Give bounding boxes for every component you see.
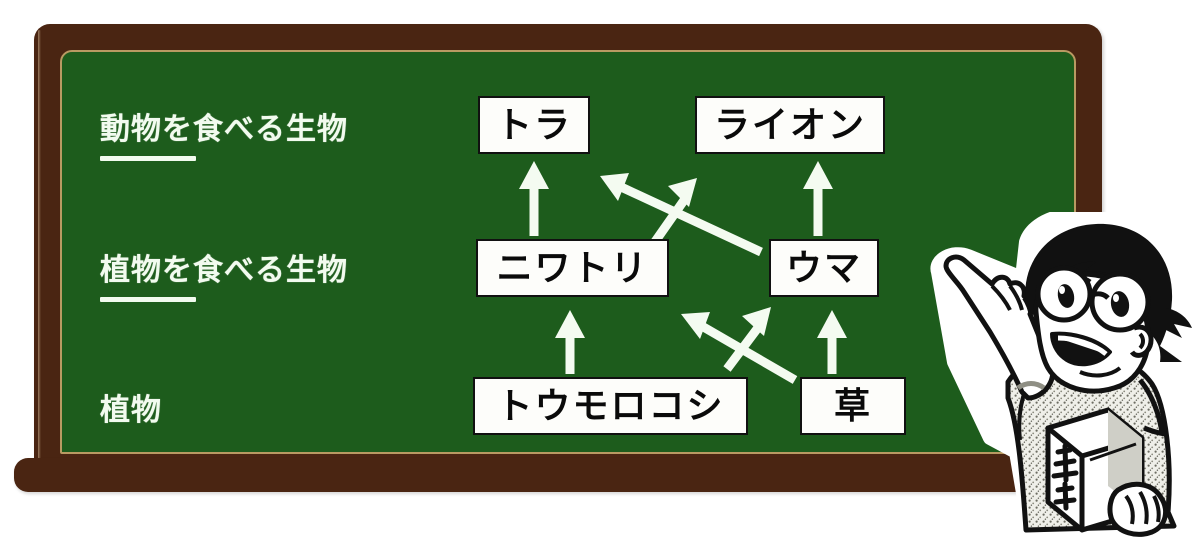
node-uma[interactable]: ウマ <box>769 239 879 297</box>
node-lion[interactable]: ライオン <box>695 96 885 154</box>
node-niwatori[interactable]: ニワトリ <box>476 239 669 297</box>
row-label-herbivore-underline <box>100 297 196 302</box>
row-label-herbivore: 植物を食べる生物 <box>100 245 348 302</box>
node-corn[interactable]: トウモロコシ <box>473 377 748 435</box>
node-tora[interactable]: トラ <box>478 96 590 154</box>
node-lion-label: ライオン <box>714 107 866 143</box>
row-label-plant: 植物 <box>100 385 162 429</box>
boy-hand <box>1110 484 1166 534</box>
node-uma-label: ウマ <box>786 250 862 286</box>
node-niwatori-label: ニワトリ <box>496 250 648 286</box>
node-corn-label: トウモロコシ <box>496 388 724 424</box>
row-label-carnivore: 動物を食べる生物 <box>100 104 348 161</box>
row-label-herbivore-text: 植物を食べる生物 <box>100 254 348 287</box>
row-label-carnivore-underline <box>100 156 196 161</box>
row-label-carnivore-text: 動物を食べる生物 <box>100 113 348 146</box>
blackboard-scene: 動物を食べる生物 植物を食べる生物 植物 <box>0 0 1200 538</box>
row-label-plant-text: 植物 <box>100 394 162 427</box>
pointing-boy-character <box>930 212 1198 538</box>
node-tora-label: トラ <box>496 107 572 143</box>
node-kusa[interactable]: 草 <box>800 377 906 435</box>
node-kusa-label: 草 <box>834 388 872 424</box>
